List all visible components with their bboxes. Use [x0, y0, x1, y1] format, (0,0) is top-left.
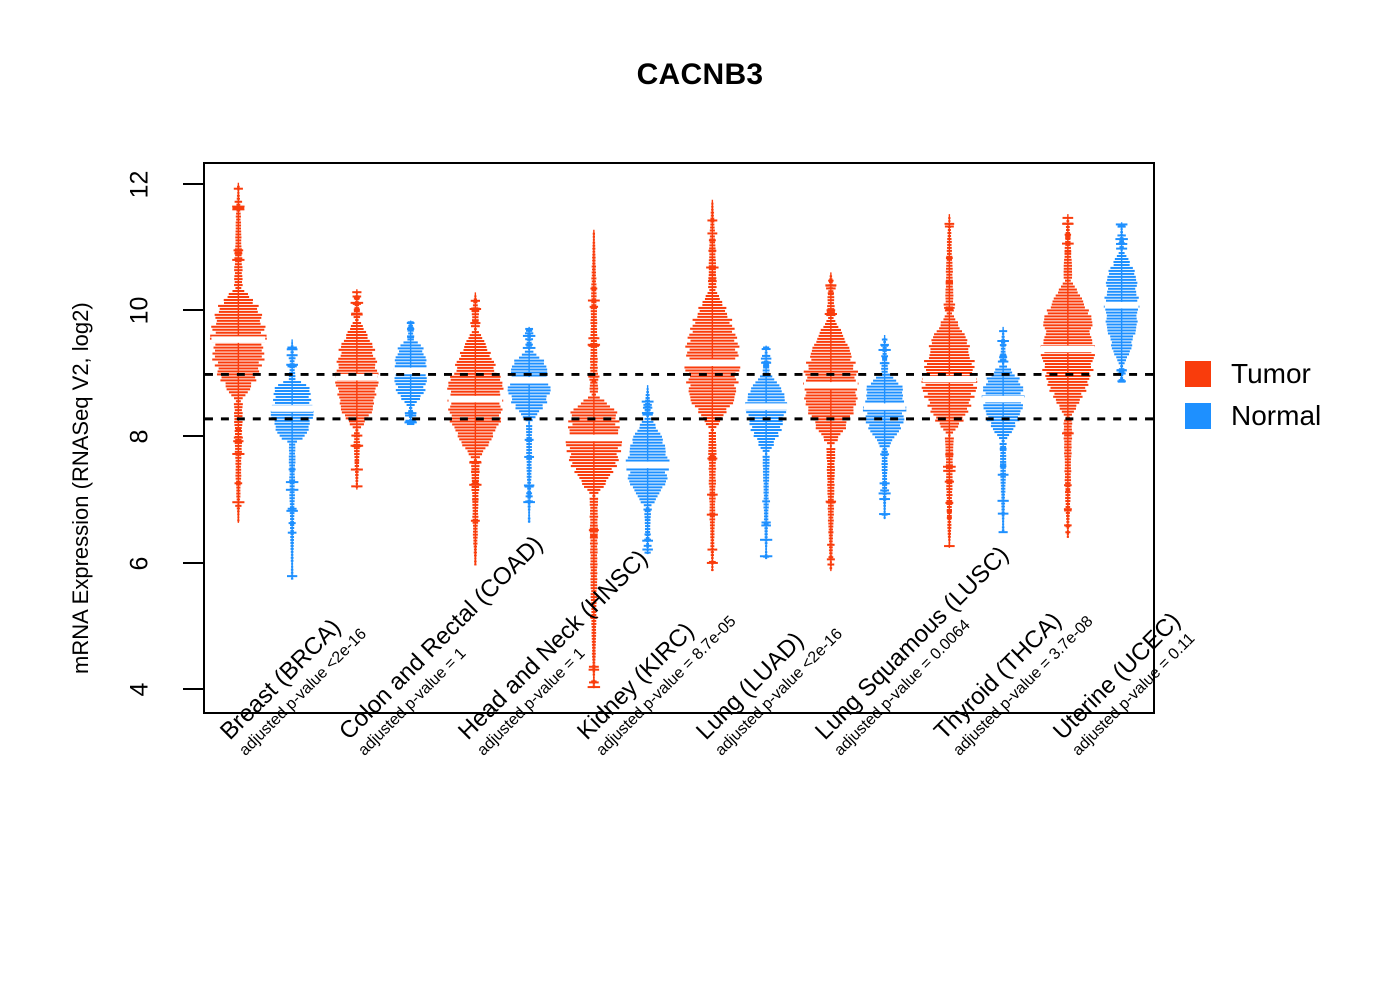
y-tick-mark	[183, 183, 203, 185]
legend-label-tumor: Tumor	[1231, 360, 1311, 388]
y-tick-label: 4	[126, 659, 155, 719]
legend-item-normal[interactable]: Normal	[1185, 402, 1321, 430]
median-bar	[864, 403, 906, 409]
y-tick-mark	[183, 562, 203, 564]
median-bar	[804, 382, 858, 388]
y-tick-label: 10	[126, 281, 155, 341]
swarm-tumor-THCA	[922, 214, 978, 548]
legend-swatch-normal	[1185, 403, 1211, 429]
swarm-tumor-LUSC	[803, 272, 858, 571]
chart-title: CACNB3	[0, 58, 1400, 92]
legend-label-normal: Normal	[1231, 402, 1321, 430]
swarm-normal-COAD	[394, 321, 428, 425]
swarm-normal-KIRC	[626, 385, 670, 554]
y-axis: mRNA Expression (RNASeq V2, log2) 468101…	[0, 0, 203, 1000]
swarm-tumor-HNSC	[447, 292, 503, 565]
median-bar	[1041, 346, 1095, 352]
median-bar	[508, 377, 550, 383]
median-bar	[211, 336, 265, 342]
y-tick-label: 12	[126, 155, 155, 215]
median-bar	[922, 376, 976, 382]
y-axis-title: mRNA Expression (RNASeq V2, log2)	[68, 302, 94, 674]
median-bar	[448, 396, 502, 402]
chart-canvas: CACNB3 mRNA Expression (RNASeq V2, log2)…	[0, 0, 1400, 1000]
y-tick-mark	[183, 309, 203, 311]
swarm-tumor-UCEC	[1041, 214, 1095, 538]
y-tick-label: 8	[126, 407, 155, 467]
swarm-normal-LUAD	[745, 346, 787, 559]
median-bar	[567, 435, 621, 441]
swarm-normal-LUSC	[863, 335, 906, 519]
median-bar	[745, 403, 787, 409]
legend: Tumor Normal	[1185, 360, 1321, 444]
swarm-tumor-BRCA	[210, 183, 267, 523]
median-bar	[685, 360, 739, 366]
y-tick-mark	[183, 688, 203, 690]
median-bar	[982, 396, 1024, 402]
y-tick-mark	[183, 435, 203, 437]
legend-swatch-tumor	[1185, 361, 1211, 387]
legend-item-tumor[interactable]: Tumor	[1185, 360, 1321, 388]
swarm-normal-THCA	[982, 327, 1025, 533]
series-host	[210, 183, 1139, 688]
swarm-tumor-COAD	[335, 289, 378, 489]
swarm-normal-HNSC	[508, 327, 551, 523]
swarm-normal-UCEC	[1104, 222, 1140, 382]
median-bar	[1105, 302, 1139, 308]
median-bar	[271, 405, 313, 411]
y-tick-label: 6	[126, 533, 155, 593]
swarm-tumor-LUAD	[684, 200, 740, 571]
median-bar	[627, 462, 669, 468]
